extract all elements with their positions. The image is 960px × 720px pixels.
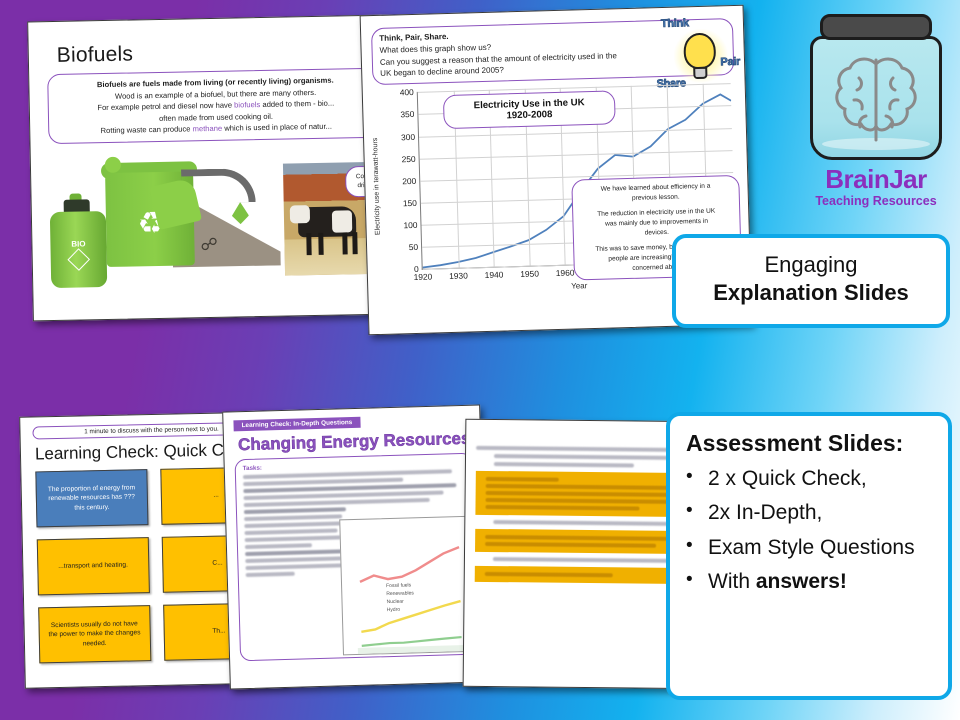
assessment-bullet: •With answers! [686, 570, 932, 594]
answer-line [486, 498, 674, 504]
svg-text:Nuclear: Nuclear [386, 599, 404, 605]
exam-question-line [476, 446, 684, 452]
quick-check-cell[interactable]: ...transport and heating. [37, 537, 150, 595]
chart-y-tick: 350 [400, 109, 414, 119]
cow-leg [352, 232, 357, 254]
chart-y-tick: 400 [400, 87, 414, 97]
task-text-line [245, 549, 347, 556]
task-text-line [245, 563, 352, 570]
exam-answer-block [475, 529, 697, 554]
chart-x-tick: 1950 [520, 269, 539, 280]
mini-series-fossil [359, 547, 460, 582]
jar-lid [820, 14, 932, 40]
assessment-bullet-list: •2 x Quick Check,•2x In-Depth,•Exam Styl… [686, 467, 932, 594]
assessment-bullet: •2 x Quick Check, [686, 467, 932, 491]
chart-y-tick: 250 [402, 154, 416, 164]
in-depth-task-panel: Tasks: Fossil fuels Renewables Nuclea [235, 453, 479, 662]
chart-title-callout: Electricity Use in the UK 1920-2008 [443, 91, 616, 130]
fish-bone-icon: ☍ [200, 235, 218, 255]
bullet-icon: • [686, 570, 708, 589]
engaging-line-1: Engaging [676, 252, 946, 278]
task-text-line [245, 528, 338, 535]
chart-x-tick: 1960 [556, 268, 575, 279]
exam-question-line [493, 520, 682, 526]
in-depth-title: Changing Energy Resources [238, 428, 480, 455]
in-depth-mini-chart: Fossil fuels Renewables Nuclear Hydro [339, 516, 475, 656]
task-text-line [244, 507, 346, 514]
bullet-icon: • [686, 467, 708, 486]
brand-tagline: Teaching Resources [800, 194, 952, 208]
task-text-line [245, 556, 343, 563]
cow-head [290, 205, 310, 223]
task-text-line [245, 543, 312, 549]
mini-chart-legend: Fossil fuels Renewables Nuclear Hydro [386, 582, 415, 613]
engaging-line-2: Explanation Slides [676, 280, 946, 306]
chart-x-tick: 1930 [449, 271, 468, 282]
assessment-bullet-text: 2 x Quick Check, [708, 467, 867, 491]
bullet-icon: • [686, 501, 708, 520]
chart-y-tick: 300 [401, 131, 415, 141]
label-pair: Pair [720, 56, 740, 69]
cow-leg [306, 233, 311, 255]
exam-answer-block [475, 471, 697, 517]
brand-name: BrainJar [800, 164, 952, 195]
chart-y-tick: 100 [403, 220, 417, 230]
brain-icon [826, 48, 926, 148]
answer-line [485, 505, 639, 511]
recycle-bin-knob [105, 156, 121, 172]
mini-series-nuclear [362, 637, 462, 646]
chart-y-tick: 150 [403, 198, 417, 208]
assessment-bullet: •2x In-Depth, [686, 501, 932, 525]
task-text-line [244, 514, 342, 521]
answer-line [486, 477, 559, 482]
biofuels-text-callout: Biofuels are fuels made from living (or … [47, 68, 384, 144]
answer-line [485, 535, 669, 541]
cow-leg [342, 232, 347, 254]
slide-preview-in-depth[interactable]: Learning Check: In-Depth Questions Chang… [222, 404, 488, 689]
mini-chart-svg: Fossil fuels Renewables Nuclear Hydro [340, 517, 476, 657]
answer-line [485, 542, 656, 548]
mini-chart-axis-band [358, 645, 470, 654]
quick-check-cell[interactable]: The proportion of energy from renewable … [35, 469, 148, 527]
biofuels-title: Biofuels [57, 38, 387, 68]
in-depth-tag: Learning Check: In-Depth Questions [233, 417, 360, 432]
svg-text:Hydro: Hydro [387, 607, 401, 613]
chart-x-tick: 1920 [413, 272, 432, 283]
assessment-bullet: •Exam Style Questions [686, 536, 932, 560]
assessment-heading: Assessment Slides: [686, 430, 932, 457]
slide-preview-biofuels[interactable]: Biofuels Biofuels are fuels made from li… [27, 15, 393, 322]
task-text-line [245, 535, 347, 542]
exam-question-line [493, 557, 687, 563]
svg-text:Renewables: Renewables [386, 590, 414, 597]
answer-line [486, 484, 683, 490]
fuel-drop-icon [232, 202, 249, 224]
chart-y-tick: 50 [409, 242, 419, 252]
engaging-explanation-callout[interactable]: Engaging Explanation Slides [672, 234, 950, 328]
cow-marking [332, 210, 352, 232]
assessment-bullet-text: With answers! [708, 570, 847, 594]
task-text-line [244, 521, 351, 528]
exam-answer-block [475, 566, 697, 584]
lightbulb-base-icon [693, 67, 707, 79]
biofuels-artwork: ☍ ♻ BIO Cow dung ( dried to us [31, 143, 392, 300]
label-think: Think [661, 17, 689, 30]
chart-y-axis-label: Electricity use in terawatt-hours [371, 111, 389, 261]
answer-line [486, 491, 679, 497]
bullet-icon: • [686, 536, 708, 555]
brainjar-logo: BrainJar Teaching Resources [800, 6, 952, 222]
exam-question-line [494, 454, 673, 460]
assessment-bullet-text: 2x In-Depth, [708, 501, 822, 525]
task-text-line [246, 572, 295, 577]
answer-line [485, 572, 613, 577]
quick-check-cell[interactable]: Scientists usually do not have the power… [38, 605, 151, 663]
cow-leg [318, 232, 323, 254]
svg-text:Fossil fuels: Fossil fuels [386, 582, 412, 589]
lightbulb-icon [683, 33, 716, 70]
assessment-bullet-text: Exam Style Questions [708, 536, 915, 560]
chart-y-tick: 200 [402, 176, 416, 186]
chart-x-tick: 1940 [485, 270, 504, 281]
exam-question-line [494, 462, 634, 467]
mini-series-renewables [361, 601, 462, 632]
assessment-slides-callout[interactable]: Assessment Slides: •2 x Quick Check,•2x … [666, 412, 952, 700]
